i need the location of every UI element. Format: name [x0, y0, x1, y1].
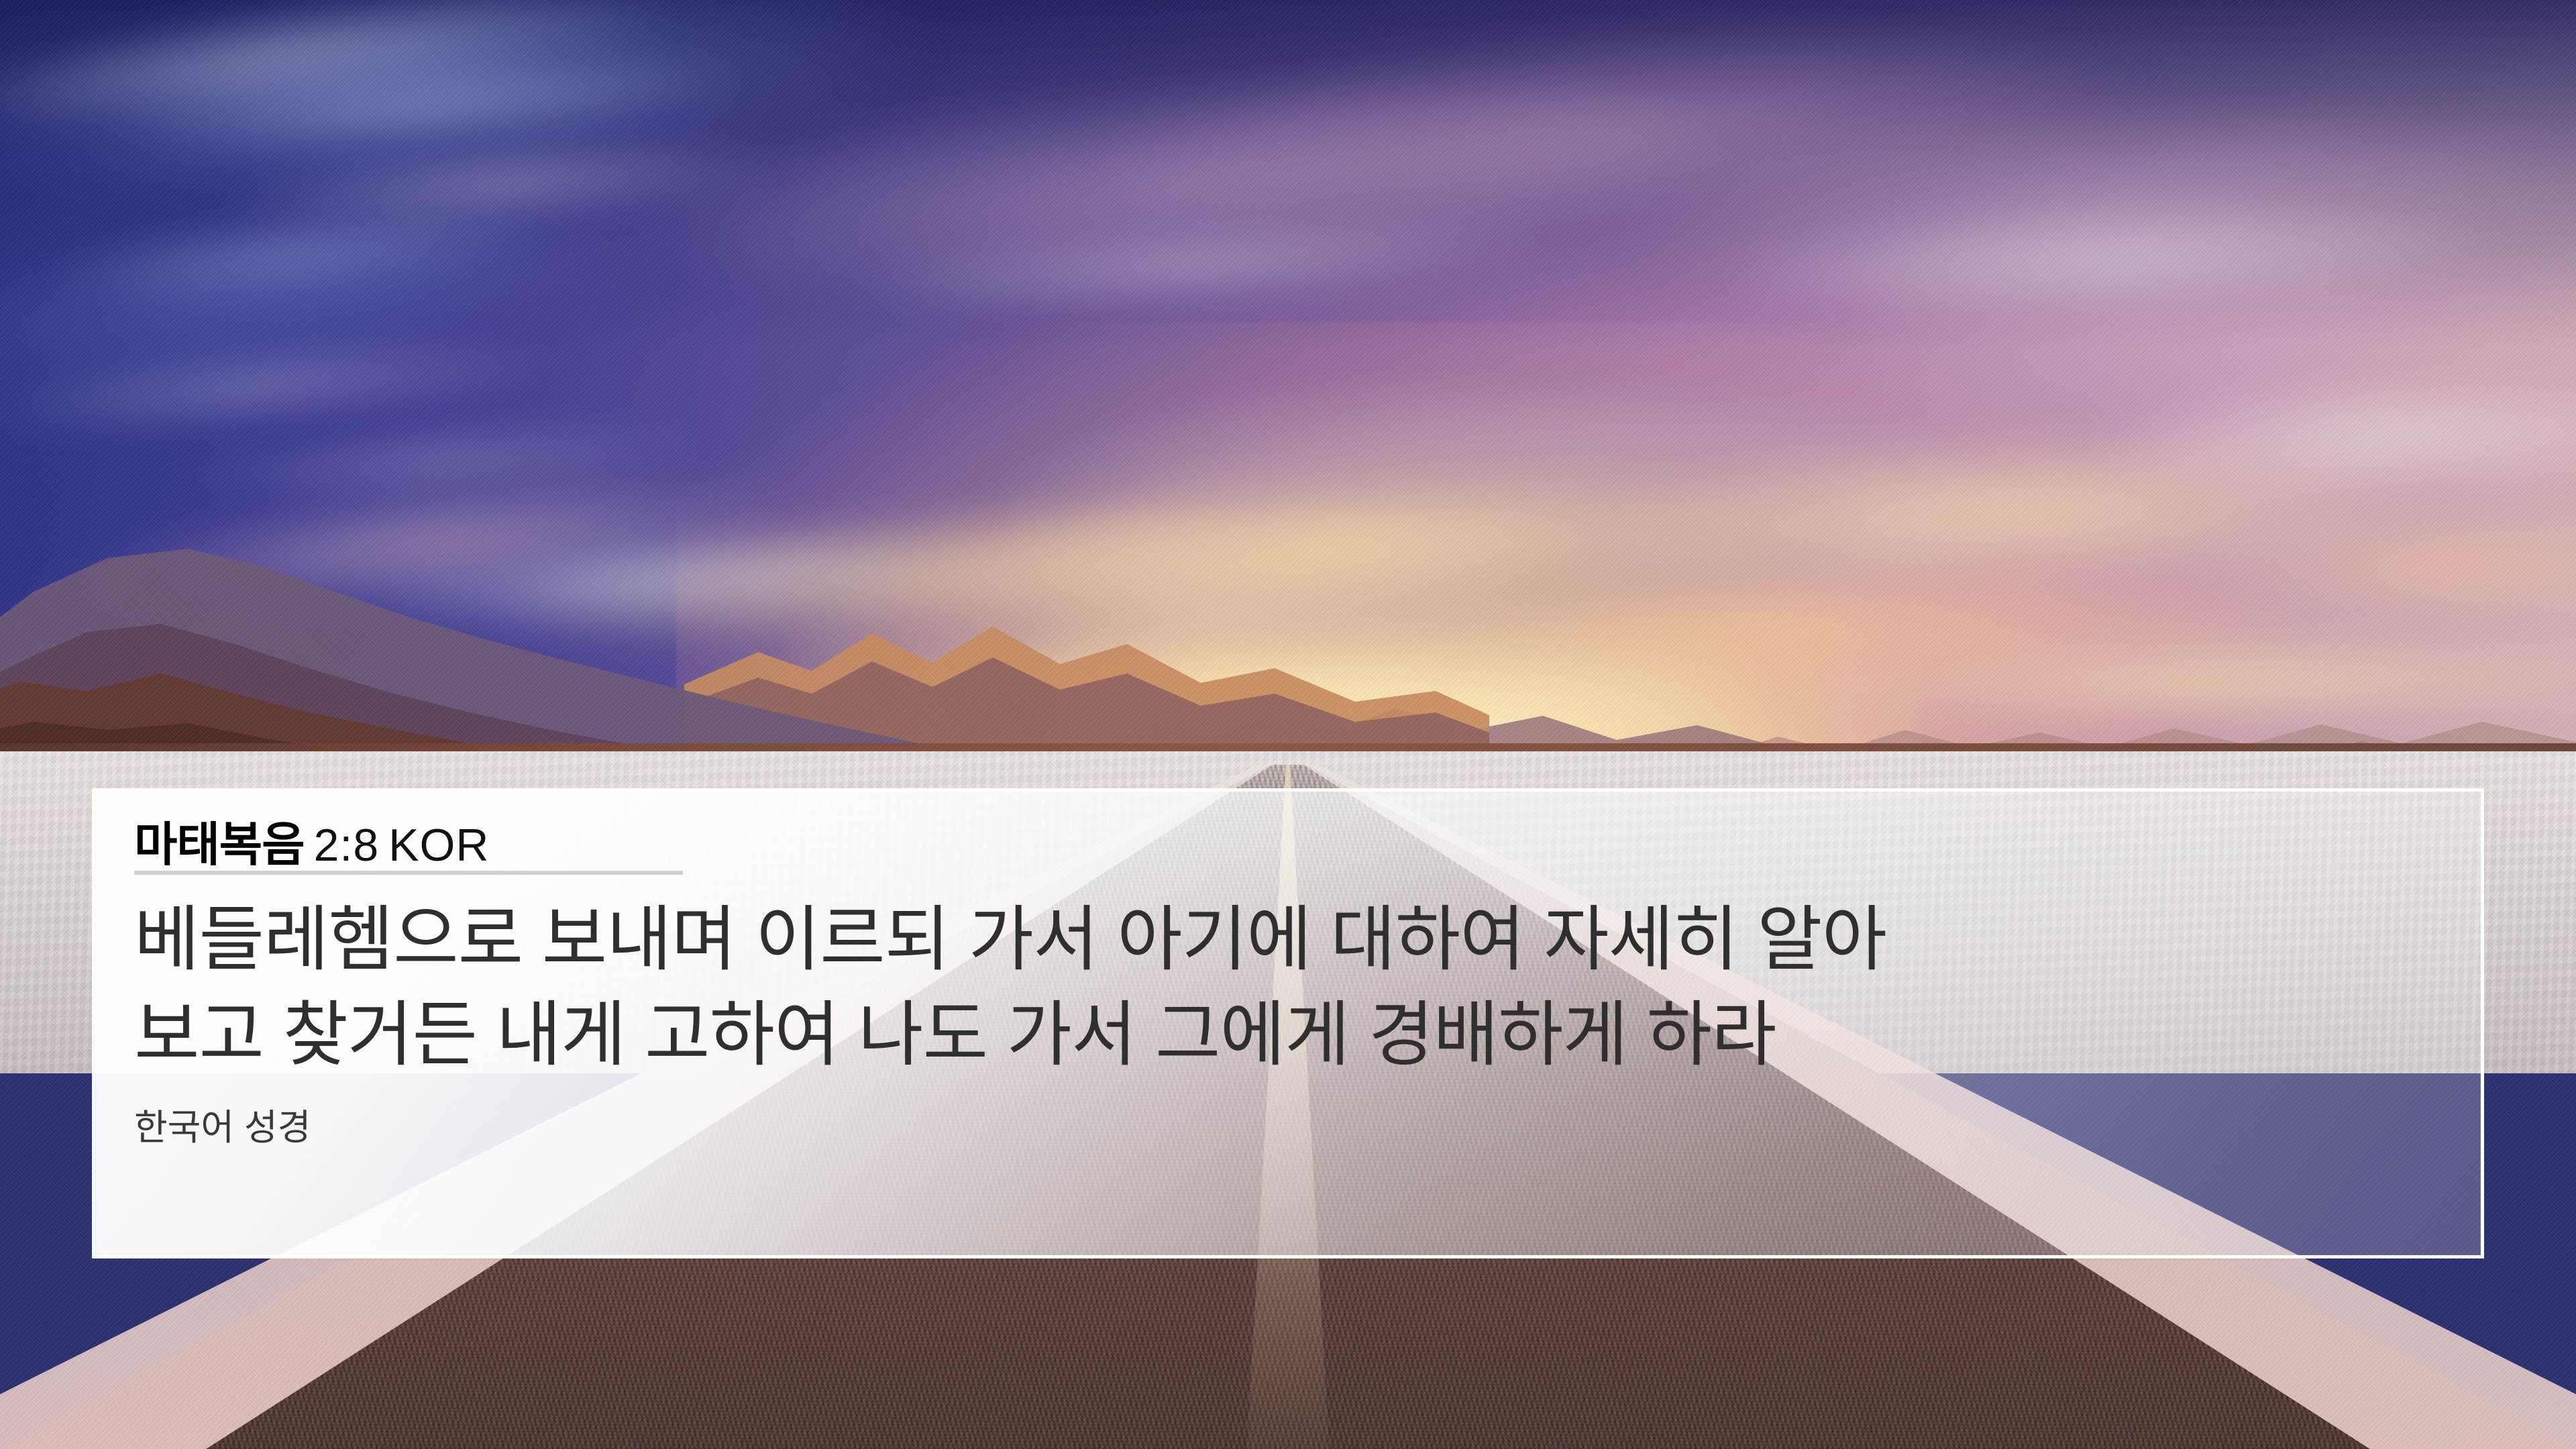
screenshot-root: 마태복음2:8KOR 베들레헴으로 보내며 이르되 가서 아기에 대하여 자세히… [0, 0, 2576, 1449]
verse-reference: 마태복음2:8KOR [134, 821, 683, 875]
verse-reference-chapter-verse: 2:8 [314, 820, 380, 871]
verse-card: 마태복음2:8KOR 베들레헴으로 보내며 이르되 가서 아기에 대하여 자세히… [92, 788, 2484, 1258]
verse-source-label: 한국어 성경 [134, 1097, 2442, 1150]
verse-reference-translation: KOR [388, 820, 489, 871]
verse-text: 베들레헴으로 보내며 이르되 가서 아기에 대하여 자세히 알아 보고 찾거든 … [134, 892, 2442, 1083]
verse-reference-book: 마태복음 [134, 818, 305, 871]
